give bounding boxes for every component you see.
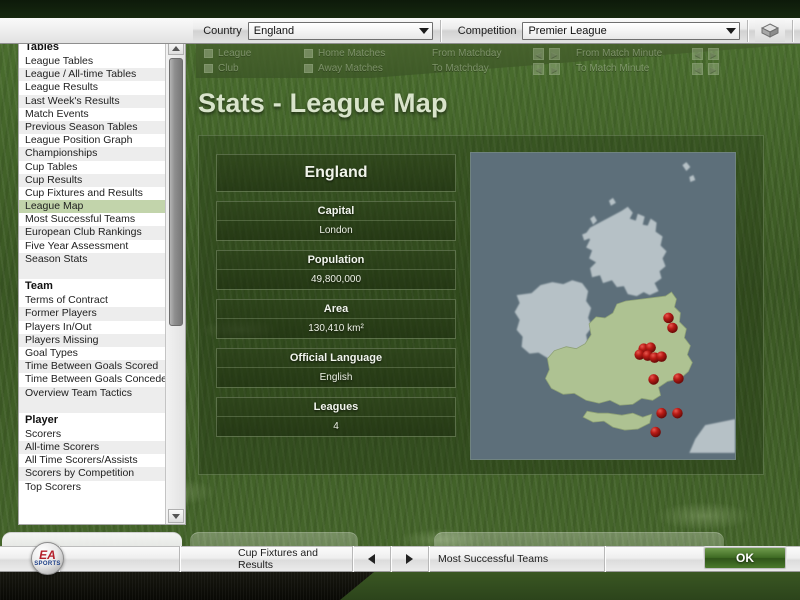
sidebar: TablesLeague TablesLeague / All-time Tab… <box>18 40 186 525</box>
sidebar-item-match-events[interactable]: Match Events <box>19 108 165 121</box>
sidebar-item-most-successful-teams[interactable]: Most Successful Teams <box>19 213 165 226</box>
ea-logo-secondary: SPORTS <box>34 561 60 568</box>
country-label: Country <box>193 25 248 37</box>
sidebar-item-terms-of-contract[interactable]: Terms of Contract <box>19 294 165 307</box>
competition-value: Premier League <box>523 25 723 37</box>
sidebar-item-championships[interactable]: Championships <box>19 147 165 160</box>
sidebar-item-cup-fixtures-and-results[interactable]: Cup Fixtures and Results <box>19 187 165 200</box>
top-toolbar: Country England Competition Premier Leag… <box>0 18 800 44</box>
stat-official-language-key: Official Language <box>217 349 455 368</box>
arrow-right-icon[interactable] <box>391 546 428 572</box>
sidebar-item-all-time-scorers-assists[interactable]: All Time Scorers/Assists <box>19 454 165 467</box>
competition-field: Competition Premier League <box>448 18 741 43</box>
toolbar-divider <box>440 20 441 42</box>
stat-capital-key: Capital <box>217 202 455 221</box>
sidebar-scrollbar[interactable] <box>165 40 185 524</box>
league-map[interactable] <box>470 152 736 460</box>
country-dropdown[interactable]: England <box>248 22 433 40</box>
sidebar-item-time-between-goals-scored[interactable]: Time Between Goals Scored <box>19 360 165 373</box>
sidebar-item-league-all-time-tables[interactable]: League / All-time Tables <box>19 68 165 81</box>
sidebar-item-previous-season-tables[interactable]: Previous Season Tables <box>19 121 165 134</box>
sidebar-item-former-players[interactable]: Former Players <box>19 307 165 320</box>
country-info-column: England Capital London Population 49,800… <box>216 154 456 437</box>
stat-capital: Capital London <box>216 201 456 241</box>
sidebar-item-goal-types[interactable]: Goal Types <box>19 347 165 360</box>
toolbar-divider <box>747 20 748 42</box>
sidebar-item-league-map[interactable]: League Map <box>19 200 165 213</box>
sidebar-item-players-in-out[interactable]: Players In/Out <box>19 321 165 334</box>
sidebar-item-league-position-graph[interactable]: League Position Graph <box>19 134 165 147</box>
sidebar-list: TablesLeague TablesLeague / All-time Tab… <box>19 40 165 524</box>
stat-population-value: 49,800,000 <box>217 270 455 289</box>
sidebar-item-players-missing[interactable]: Players Missing <box>19 334 165 347</box>
sidebar-item-top-scorers[interactable]: Top Scorers <box>19 481 165 494</box>
sidebar-item-five-year-assessment[interactable]: Five Year Assessment <box>19 240 165 253</box>
sidebar-group-team: Team <box>19 279 165 294</box>
sidebar-item-league-tables[interactable]: League Tables <box>19 55 165 68</box>
stat-area: Area 130,410 km² <box>216 299 456 339</box>
stat-leagues-value: 4 <box>217 417 455 436</box>
sidebar-item-cup-results[interactable]: Cup Results <box>19 174 165 187</box>
sidebar-item-overview-team-tactics[interactable]: Overview Team Tactics <box>19 387 165 400</box>
competition-label: Competition <box>448 25 523 37</box>
sidebar-item-scorers-by-competition[interactable]: Scorers by Competition <box>19 467 165 480</box>
application-window: League Club Home Matches Away Matches Fr… <box>0 0 800 600</box>
navbar-divider <box>604 546 605 572</box>
sidebar-group-player: Player <box>19 413 165 428</box>
sidebar-item-cup-tables[interactable]: Cup Tables <box>19 161 165 174</box>
ok-button[interactable]: OK <box>704 547 786 569</box>
country-field: Country England <box>193 18 433 43</box>
competition-dropdown[interactable]: Premier League <box>522 22 740 40</box>
bottom-navbar: Cup Fixtures and Results Most Successful… <box>0 546 800 572</box>
sidebar-item-all-time-scorers[interactable]: All-time Scorers <box>19 441 165 454</box>
next-page-label[interactable]: Most Successful Teams <box>429 546 604 572</box>
prev-page-label[interactable]: Cup Fixtures and Results <box>180 546 352 572</box>
sidebar-item-scorers[interactable]: Scorers <box>19 428 165 441</box>
ea-logo-primary: EA <box>39 550 56 561</box>
sidebar-item-season-stats[interactable]: Season Stats <box>19 253 165 266</box>
ea-sports-logo: EA SPORTS <box>31 542 64 575</box>
chevron-down-icon[interactable] <box>723 23 739 39</box>
chevron-down-icon[interactable] <box>416 23 432 39</box>
sidebar-group-spacer <box>19 266 165 279</box>
stat-official-language: Official Language English <box>216 348 456 388</box>
sidebar-item-league-results[interactable]: League Results <box>19 81 165 94</box>
country-name-tile: England <box>216 154 456 192</box>
scrollbar-thumb[interactable] <box>169 58 183 326</box>
bottom-green-corner <box>340 572 800 600</box>
arrow-left-icon[interactable] <box>353 546 390 572</box>
sidebar-item-european-club-rankings[interactable]: European Club Rankings <box>19 226 165 239</box>
scroll-down-arrow-icon[interactable] <box>168 509 184 523</box>
cube-icon[interactable] <box>755 20 785 42</box>
top-letterbox-strip <box>0 0 800 18</box>
page-title: Stats - League Map <box>198 88 448 119</box>
stat-population: Population 49,800,000 <box>216 250 456 290</box>
stat-official-language-value: English <box>217 368 455 387</box>
stat-population-key: Population <box>217 251 455 270</box>
sidebar-item-time-between-goals-conceded[interactable]: Time Between Goals Conceded <box>19 373 165 386</box>
stat-leagues: Leagues 4 <box>216 397 456 437</box>
country-value: England <box>249 25 416 37</box>
stat-leagues-key: Leagues <box>217 398 455 417</box>
stat-area-value: 130,410 km² <box>217 319 455 338</box>
sidebar-group-spacer <box>19 400 165 413</box>
toolbar-divider <box>792 20 793 42</box>
stat-capital-value: London <box>217 221 455 240</box>
stat-area-key: Area <box>217 300 455 319</box>
toolbar-left-pad <box>0 18 193 43</box>
navbar-spacer <box>59 546 179 572</box>
cube-icon-glyph <box>761 23 779 39</box>
sidebar-item-last-week-s-results[interactable]: Last Week's Results <box>19 95 165 108</box>
